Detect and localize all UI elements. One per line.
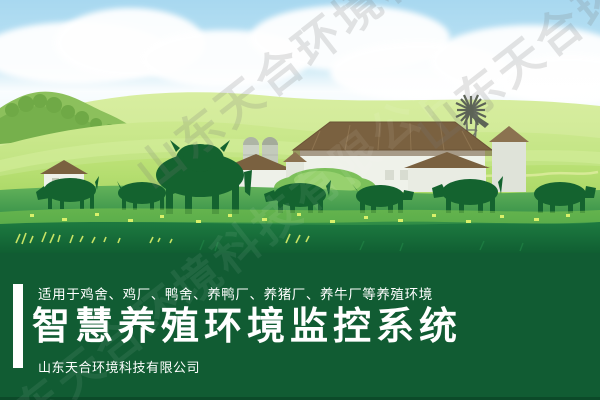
- accent-bar: [13, 284, 23, 368]
- poster-root: 适用于鸡舍、鸡厂、鸭舍、养鸭厂、养猪厂、养牛厂等养殖环境 智慧养殖环境监控系统 …: [0, 0, 600, 400]
- foreground-field: [0, 222, 600, 256]
- farm-illustration: [0, 0, 600, 256]
- page-title: 智慧养殖环境监控系统: [32, 306, 462, 350]
- landscape-svg: [0, 0, 600, 256]
- company-name: 山东天合环境科技有限公司: [38, 357, 200, 376]
- banner-subtitle: 适用于鸡舍、鸡厂、鸭舍、养鸭厂、养猪厂、养牛厂等养殖环境: [38, 283, 433, 303]
